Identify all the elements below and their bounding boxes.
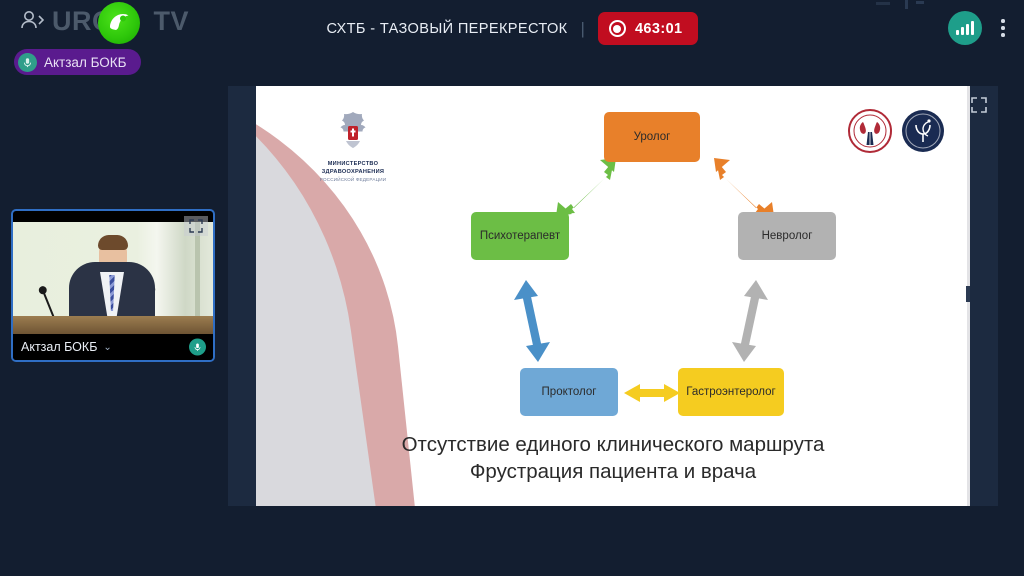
video-feed	[13, 222, 213, 334]
meeting-title-group: СХТБ - ТАЗОВЫЙ ПЕРЕКРЕСТОК | 463:01	[0, 12, 1024, 45]
self-video-name: Актзал БОКБ	[21, 340, 97, 354]
arrow-urolog-psycho	[552, 156, 622, 220]
ministry-line-2: ЗДРАВООХРАНЕНИЯ	[298, 169, 408, 177]
node-nevrolog[interactable]: Невролог	[738, 212, 836, 260]
node-proktolog-label: Проктолог	[542, 386, 597, 398]
top-right-controls	[948, 11, 1014, 45]
chevron-down-icon[interactable]: ⌄	[103, 342, 111, 353]
top-artifact-1	[876, 2, 890, 5]
node-gastroenterolog[interactable]: Гастроэнтеролог	[678, 368, 784, 416]
node-psihoterapevt-label: Психотерапевт	[480, 230, 560, 242]
user-chip-label: Актзал БОКБ	[44, 55, 127, 70]
signal-bars-icon[interactable]	[948, 11, 982, 45]
node-psihoterapevt[interactable]: Психотерапевт	[471, 212, 569, 260]
microphone-icon	[18, 53, 37, 72]
urology-kidney-emblem	[847, 108, 893, 154]
podium-microphone-left	[42, 290, 55, 319]
expand-icon[interactable]	[184, 216, 208, 236]
fullscreen-icon[interactable]	[968, 94, 990, 116]
self-video-tile[interactable]: Актзал БОКБ ⌄	[11, 209, 215, 362]
speaker-hair	[98, 235, 128, 250]
arrow-nevro-gastro	[728, 278, 770, 364]
node-proktolog[interactable]: Проктолог	[520, 368, 618, 416]
node-nevrolog-label: Невролог	[762, 230, 813, 242]
microphone-icon	[189, 339, 206, 356]
ministry-line-3: РОССИЙСКОЙ ФЕДЕРАЦИИ	[298, 177, 408, 182]
slide-canvas[interactable]: МИНИСТЕРСТВО ЗДРАВООХРАНЕНИЯ РОССИЙСКОЙ …	[256, 86, 970, 506]
bottom-control-bar	[0, 506, 1024, 576]
record-dot-icon	[609, 20, 626, 37]
top-artifact-3	[916, 1, 924, 4]
arrow-urolog-nevro	[708, 156, 778, 220]
slide-caption-line-1: Отсутствие единого клинического маршрута	[256, 431, 970, 458]
arrow-psycho-prokto	[512, 278, 554, 364]
top-bar: URO TV Актзал БОКБ	[0, 0, 1024, 58]
russian-coat-of-arms	[330, 108, 376, 154]
medical-bowl-hygieia-emblem	[900, 108, 946, 154]
recording-timer: 463:01	[635, 21, 683, 37]
speaker-body	[69, 262, 155, 320]
kebab-menu-icon[interactable]	[992, 13, 1014, 43]
slide-caption-line-2: Фрустрация пациента и врача	[256, 458, 970, 485]
node-urolog-label: Уролог	[634, 131, 671, 143]
slide-caption: Отсутствие единого клинического маршрута…	[256, 431, 970, 485]
node-urolog[interactable]: Уролог	[604, 112, 700, 162]
page-title: СХТБ - ТАЗОВЫЙ ПЕРЕКРЕСТОК	[326, 21, 567, 37]
user-chip[interactable]: Актзал БОКБ	[14, 49, 141, 75]
slide-emblems	[847, 108, 946, 154]
presentation-stage: МИНИСТЕРСТВО ЗДРАВООХРАНЕНИЯ РОССИЙСКОЙ …	[228, 86, 998, 506]
title-separator: |	[581, 19, 585, 39]
meeting-app: URO TV Актзал БОКБ	[0, 0, 1024, 576]
podium-desk	[13, 316, 213, 334]
ministry-logo: МИНИСТЕРСТВО ЗДРАВООХРАНЕНИЯ РОССИЙСКОЙ …	[298, 108, 408, 182]
arrow-prokto-gastro	[622, 382, 682, 404]
top-artifact-2	[905, 0, 908, 9]
ministry-line-1: МИНИСТЕРСТВО	[298, 161, 408, 169]
node-gastroenterolog-label: Гастроэнтеролог	[686, 386, 776, 398]
slide-scroll-marker[interactable]	[966, 286, 970, 302]
self-video-label-bar: Актзал БОКБ ⌄	[13, 334, 213, 360]
recording-indicator[interactable]: 463:01	[598, 12, 698, 45]
